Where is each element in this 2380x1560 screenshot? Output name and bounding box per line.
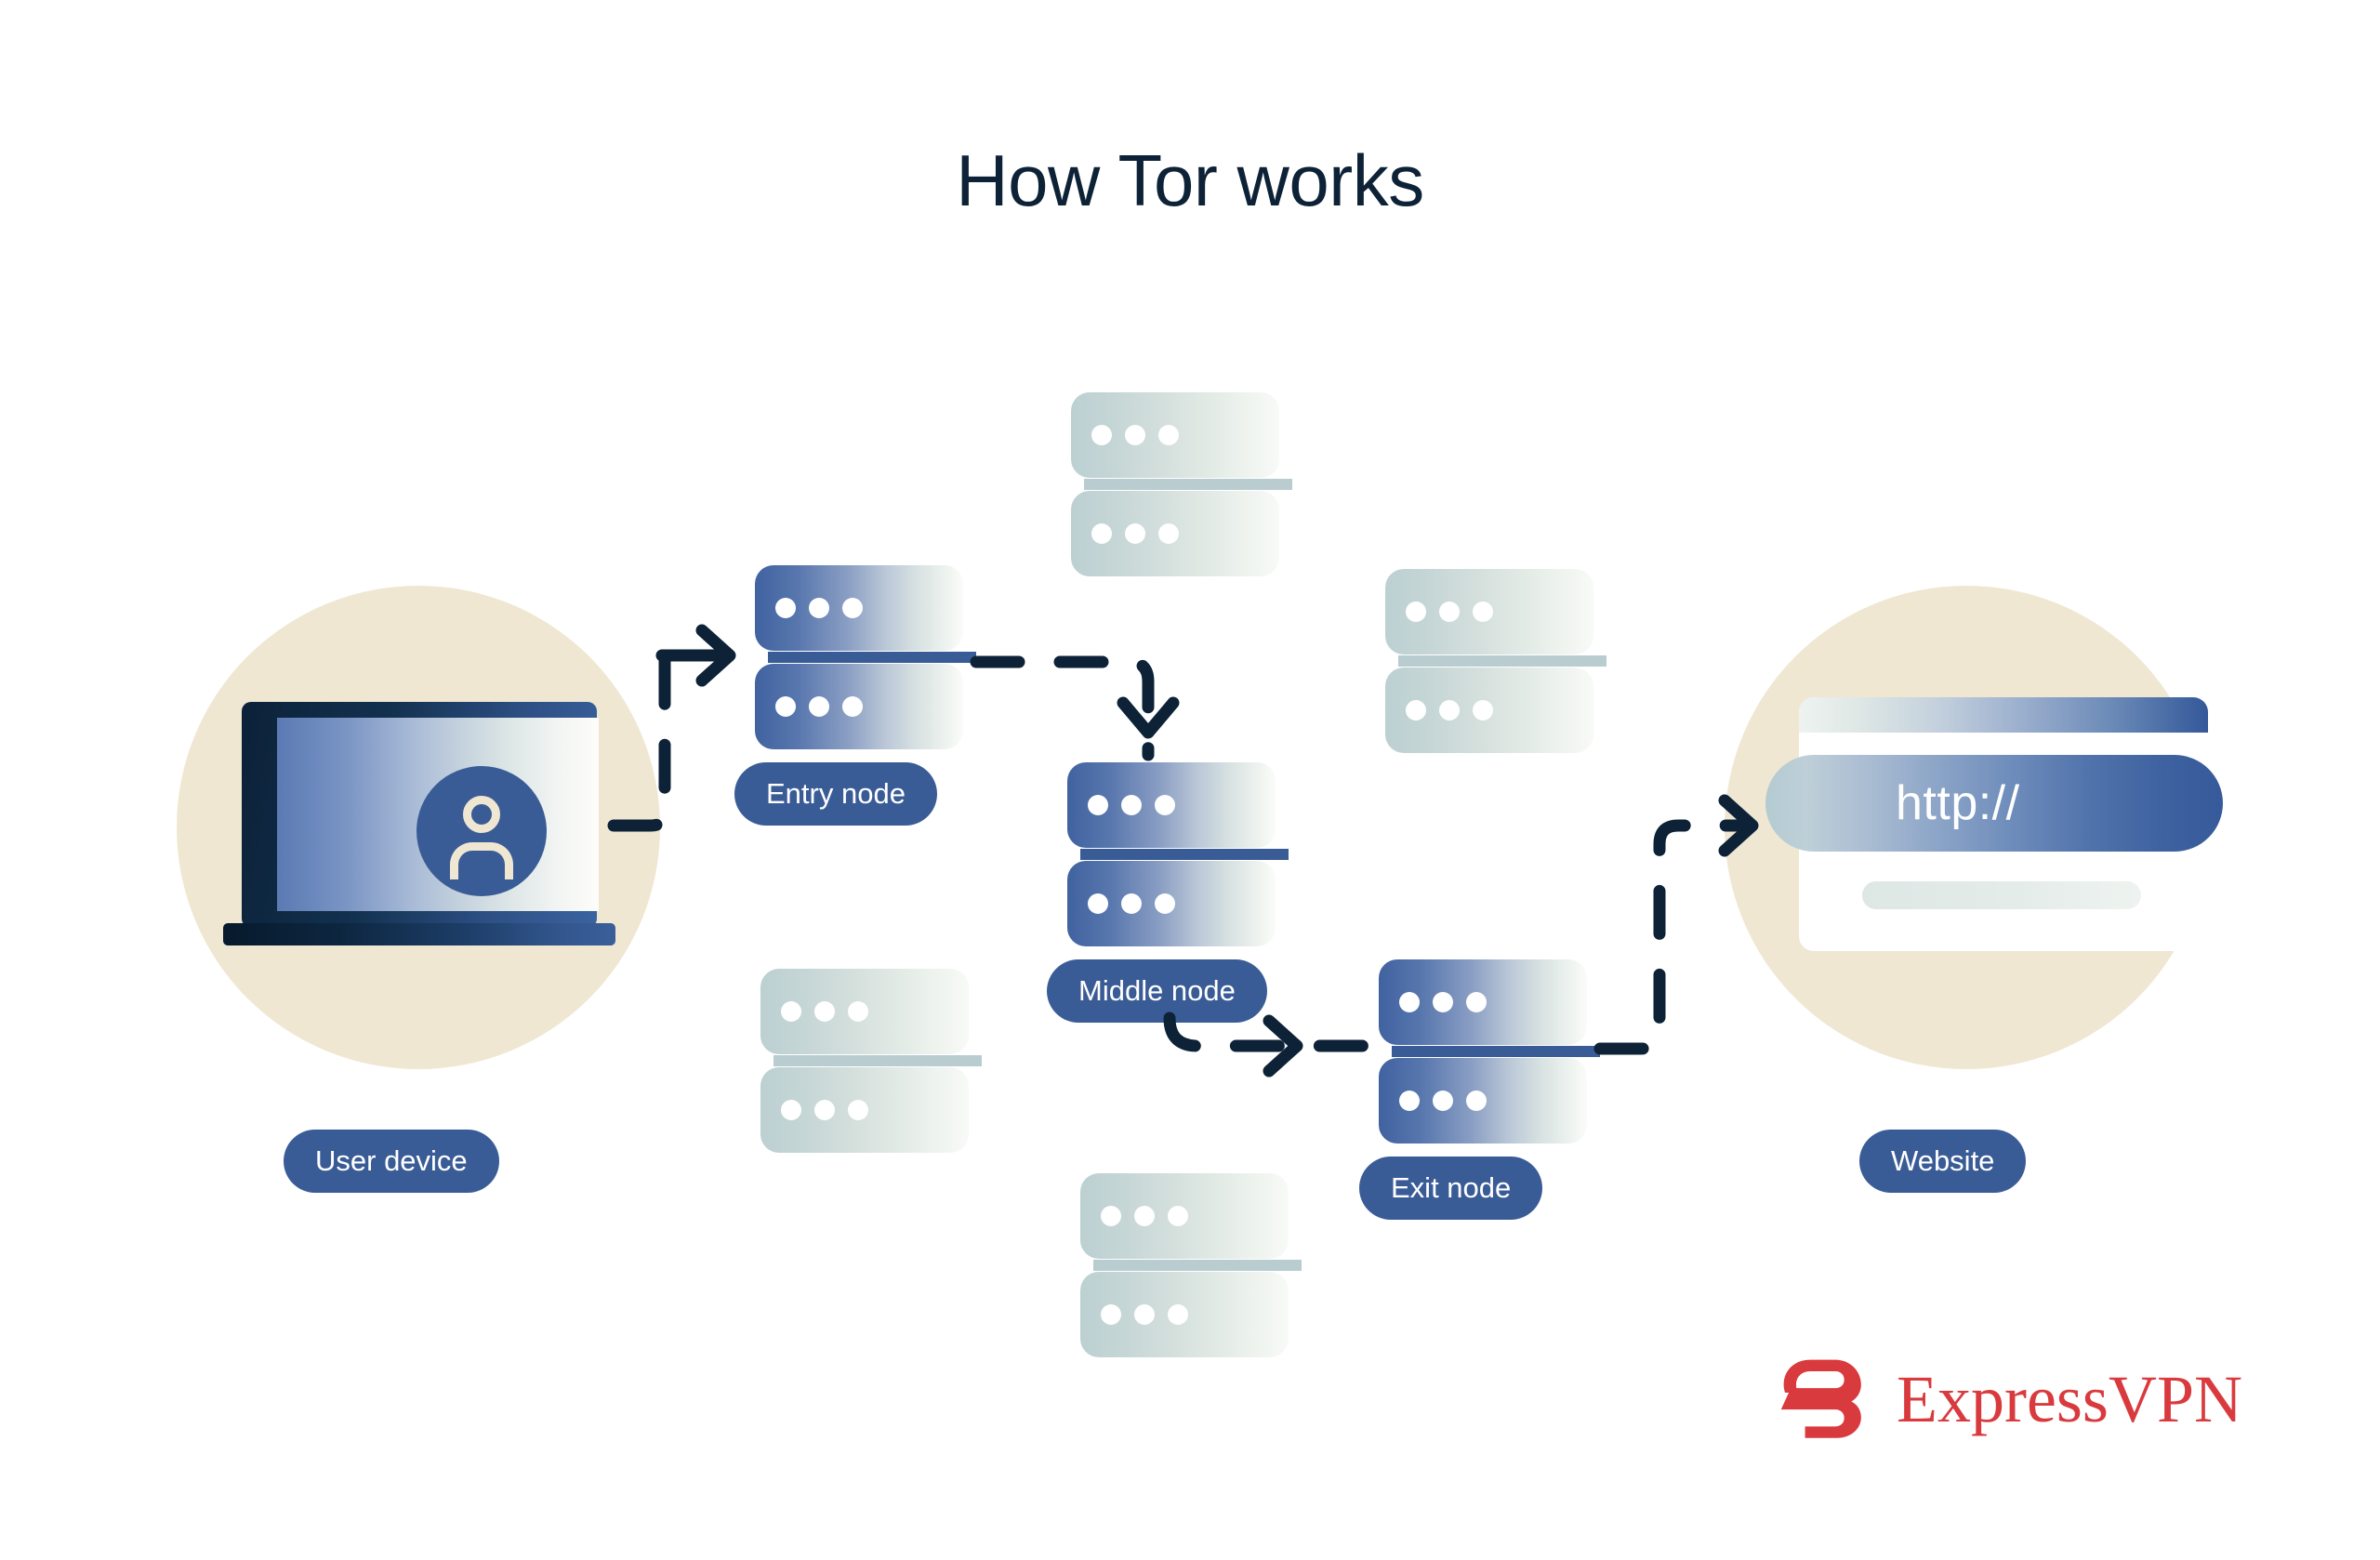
avatar-body	[450, 842, 513, 879]
server-connector-bar	[768, 652, 976, 663]
server-lights	[775, 696, 863, 717]
browser-content-placeholder	[1862, 881, 2141, 909]
server-rack-bottom	[1385, 668, 1593, 753]
server-rack-bottom	[1379, 1058, 1587, 1144]
server-lights	[1406, 602, 1493, 622]
node-label-middle-node[interactable]: Middle node	[1047, 959, 1267, 1023]
server-rack-top	[1379, 959, 1587, 1045]
server-rack-top	[760, 969, 969, 1054]
server-icon-middle-node[interactable]	[1067, 762, 1289, 946]
server-icon-entry-node[interactable]	[755, 565, 976, 749]
expressvpn-logo-icon	[1776, 1351, 1872, 1448]
arrowhead-middle-to-exit	[1269, 1021, 1297, 1071]
server-icon-inactive-bottom-center	[1080, 1173, 1302, 1357]
server-connector-bar	[1084, 479, 1292, 490]
node-label-website[interactable]: Website	[1859, 1130, 2026, 1193]
server-rack-bottom	[755, 664, 963, 749]
page-title: How Tor works	[0, 144, 2380, 217]
server-rack-top	[755, 565, 963, 651]
server-rack-top	[1067, 762, 1276, 848]
server-lights	[1101, 1206, 1188, 1226]
server-rack-bottom	[1067, 861, 1276, 946]
browser-window-icon: http://	[1799, 697, 2208, 951]
node-label-exit-node[interactable]: Exit node	[1359, 1157, 1542, 1220]
brand-logo: ExpressVPN	[1776, 1348, 2203, 1450]
server-icon-inactive-lower-left	[760, 969, 982, 1153]
server-lights	[1088, 795, 1175, 815]
server-lights	[1091, 523, 1179, 544]
server-lights	[1406, 700, 1493, 721]
arrowhead-entry-to-middle	[1123, 703, 1173, 733]
server-icon-inactive-top-center	[1071, 392, 1292, 576]
server-rack-bottom	[1071, 491, 1279, 576]
node-label-user-device[interactable]: User device	[284, 1130, 499, 1193]
server-connector-bar	[1392, 1046, 1600, 1057]
url-text: http://	[1896, 775, 2020, 831]
connector-exit-to-website	[1600, 826, 1748, 1049]
diagram-canvas: How Tor works User device	[0, 0, 2380, 1560]
laptop-base	[223, 923, 615, 945]
server-lights	[1399, 1091, 1487, 1111]
server-lights	[1399, 992, 1487, 1012]
server-rack-top	[1071, 392, 1279, 478]
connector-entry-to-middle	[976, 662, 1148, 755]
server-lights	[1101, 1304, 1188, 1325]
browser-address-bar[interactable]: http://	[1765, 755, 2223, 852]
laptop-screen	[277, 718, 599, 911]
server-lights	[775, 598, 863, 618]
server-rack-top	[1385, 569, 1593, 654]
laptop-user-icon	[223, 702, 615, 948]
server-icon-exit-node[interactable]	[1379, 959, 1600, 1144]
server-rack-bottom	[1080, 1272, 1289, 1357]
server-connector-bar	[773, 1055, 982, 1066]
server-icon-inactive-upper-right	[1385, 569, 1606, 753]
brand-wordmark: ExpressVPN	[1897, 1366, 2242, 1433]
user-avatar-icon	[416, 766, 547, 896]
server-lights	[781, 1001, 868, 1022]
avatar-head	[463, 796, 500, 833]
browser-titlebar	[1799, 697, 2208, 733]
server-lights	[1091, 425, 1179, 445]
node-label-entry-node[interactable]: Entry node	[734, 762, 937, 826]
server-connector-bar	[1093, 1260, 1302, 1271]
server-lights	[1088, 893, 1175, 914]
arrowhead-user-to-entry	[702, 630, 730, 681]
server-rack-bottom	[760, 1067, 969, 1153]
server-rack-top	[1080, 1173, 1289, 1259]
server-connector-bar	[1080, 849, 1289, 860]
laptop-lid	[242, 702, 597, 928]
server-lights	[781, 1100, 868, 1120]
server-connector-bar	[1398, 655, 1606, 667]
